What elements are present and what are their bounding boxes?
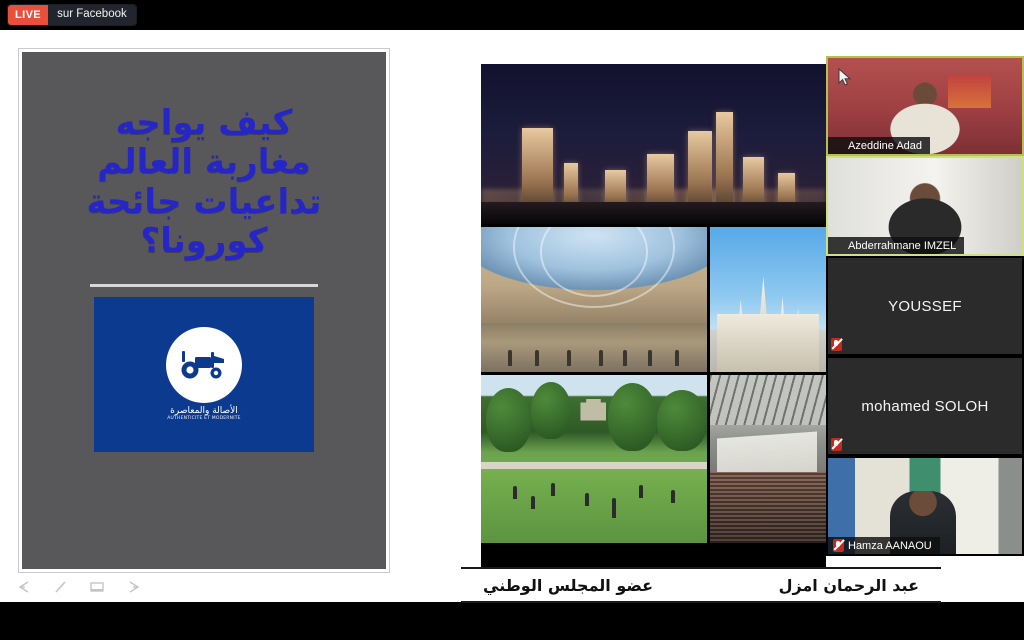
collage-row-bottom [481, 375, 826, 543]
speaker-role: عضو المجلس الوطني [483, 576, 653, 595]
galleria-vittorio-emanuele-photo [481, 227, 707, 372]
participant-tile-hamza-aanaou[interactable]: Hamza AANAOU [826, 456, 1024, 556]
participant-name-badge: Azeddine Adad [828, 137, 930, 154]
slide-view-icon[interactable] [88, 579, 106, 595]
party-logo-box: الأصالة والمعاصرة AUTHENTICITE ET MODERN… [94, 297, 314, 452]
broadcast-canvas: كيف يواجه مغاربة العالم تداعيات جائحة كو… [0, 30, 1024, 602]
duomo-di-milano-photo [710, 227, 826, 372]
camera-off-placeholder: mohamed SOLOH [828, 358, 1022, 454]
photo-collage [481, 64, 826, 580]
logo-caption-fr: AUTHENTICITE ET MODERNITE [167, 417, 240, 422]
collage-row-middle [481, 227, 826, 372]
slide-title-line-3: تداعيات جائحة [37, 183, 372, 222]
participant-tile-youssef[interactable]: YOUSSEF [826, 256, 1024, 356]
participant-name: Abderrahmane IMZEL [848, 240, 956, 252]
live-label: LIVE [8, 5, 48, 25]
participant-tile-azeddine-adad[interactable]: Azeddine Adad [826, 56, 1024, 156]
participant-name: Hamza AANAOU [848, 540, 932, 552]
participant-tile-abderrahmane-imzel[interactable]: Abderrahmane IMZEL [826, 156, 1024, 256]
pen-tool-icon[interactable] [52, 579, 70, 595]
participant-tile-mohamed-soloh[interactable]: mohamed SOLOH [826, 356, 1024, 456]
participant-video-strip: Azeddine Adad Abderrahmane IMZEL YOUSSEF… [826, 56, 1024, 580]
participant-name: Azeddine Adad [848, 140, 922, 152]
logo-caption-ar: الأصالة والمعاصرة [170, 406, 238, 416]
participant-name: mohamed SOLOH [861, 398, 988, 415]
broadcast-screen: LIVE sur Facebook كيف يواجه مغاربة العال… [0, 0, 1024, 640]
live-source-label: sur Facebook [48, 5, 136, 25]
participant-name: YOUSSEF [888, 298, 962, 315]
live-status-bar: LIVE sur Facebook [0, 0, 1024, 30]
milan-skyline-night-photo [481, 64, 826, 224]
slide-surface: كيف يواجه مغاربة العالم تداعيات جائحة كو… [22, 52, 386, 569]
live-badge: LIVE sur Facebook [8, 5, 136, 25]
slide-title-line-4: كورونا؟ [37, 222, 372, 261]
collage-row-top [481, 64, 826, 224]
participant-name-badge: Hamza AANAOU [828, 537, 940, 554]
slide-title-line-1: كيف يواجه [37, 104, 372, 143]
mic-muted-icon [833, 539, 844, 552]
presentation-slide-panel[interactable]: كيف يواجه مغاربة العالم تداعيات جائحة كو… [18, 48, 390, 573]
previous-slide-icon[interactable] [16, 579, 34, 595]
mic-muted-icon [831, 338, 842, 351]
parco-sempione-photo [481, 375, 707, 543]
presenter-toolbar[interactable] [16, 579, 142, 595]
slide-title: كيف يواجه مغاربة العالم تداعيات جائحة كو… [37, 104, 372, 262]
logo-caption: الأصالة والمعاصرة AUTHENTICITE ET MODERN… [167, 407, 240, 422]
mic-muted-icon [831, 438, 842, 451]
san-siro-stadium-photo [710, 375, 826, 543]
participant-name-badge: Abderrahmane IMZEL [828, 237, 964, 254]
tractor-icon [166, 327, 242, 403]
slide-divider [90, 284, 318, 287]
camera-off-placeholder: YOUSSEF [828, 258, 1022, 354]
next-slide-icon[interactable] [124, 579, 142, 595]
slide-title-line-2: مغاربة العالم [37, 143, 372, 182]
